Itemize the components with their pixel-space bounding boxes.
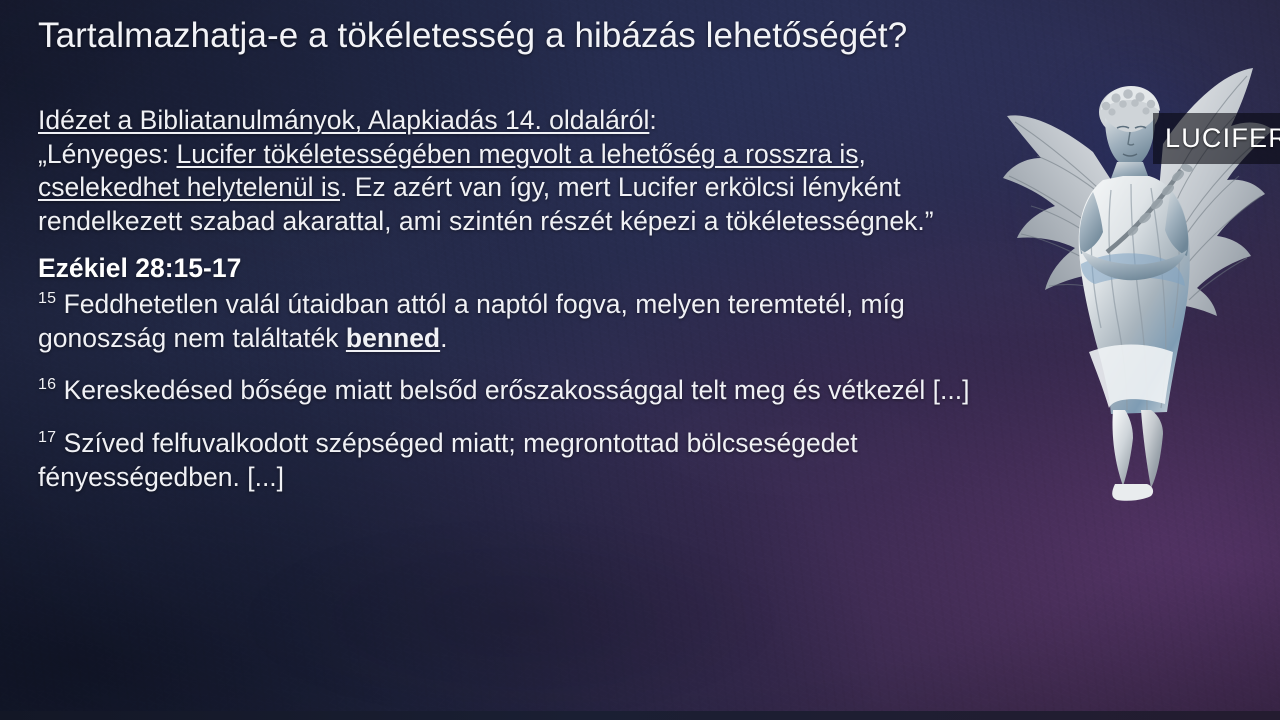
page-title: Tartalmazhatja-e a tökéletesség a hibázá… <box>38 16 907 55</box>
verse-number-15: 15 <box>38 291 56 308</box>
statue-head <box>1099 86 1160 167</box>
quote-lead: Lényeges: <box>47 139 177 169</box>
angel-statue-illustration <box>985 24 1280 514</box>
verse-16: 16 Kereskedésed bősége miatt belsőd erős… <box>38 374 978 408</box>
slide-body: Idézet a Bibliatanulmányok, Alapkiadás 1… <box>38 104 978 494</box>
verse-15-emphasis: benned <box>346 323 440 353</box>
verse-16-text-before: Kereskedésed bősége miatt belsőd erőszak… <box>56 375 969 405</box>
angel-statue-image <box>985 24 1280 514</box>
quote-open-mark: „ <box>38 139 47 169</box>
lucifer-caption-box: LUCIFER <box>1153 113 1280 164</box>
scripture-reference: Ezékiel 28:15-17 <box>38 252 978 285</box>
slide-content: Tartalmazhatja-e a tökéletesség a hibázá… <box>36 0 1016 720</box>
verse-17-text-before: Szíved felfuvalkodott szépséged miatt; m… <box>38 428 858 492</box>
verse-number-17: 17 <box>38 429 56 446</box>
verse-17: 17 Szíved felfuvalkodott szépséged miatt… <box>38 427 978 494</box>
verse-15: 15 Feddhetetlen valál útaidban attól a n… <box>38 288 978 355</box>
verse-15-text-after: . <box>440 323 447 353</box>
quote-emphasis-one: Lucifer tökéletességében megvolt a lehet… <box>176 139 858 169</box>
lucifer-caption-label: LUCIFER <box>1165 123 1280 154</box>
quote-source-underlined: Idézet a Bibliatanulmányok, Alapkiadás 1… <box>38 105 649 135</box>
statue-legs <box>1112 410 1163 501</box>
quote-text: „Lényeges: Lucifer tökéletességében megv… <box>38 138 978 239</box>
quote-comma: , <box>859 139 866 169</box>
verse-15-text-before: Feddhetetlen valál útaidban attól a napt… <box>38 289 905 353</box>
quote-source-colon: : <box>649 105 656 135</box>
quote-source-line: Idézet a Bibliatanulmányok, Alapkiadás 1… <box>38 104 978 138</box>
slide-canvas: LUCIFER Tartalmazhatja-e a tökéletesség … <box>0 0 1280 720</box>
verse-number-16: 16 <box>38 377 56 394</box>
quote-emphasis-two: cselekedhet helytelenül is <box>38 172 340 202</box>
